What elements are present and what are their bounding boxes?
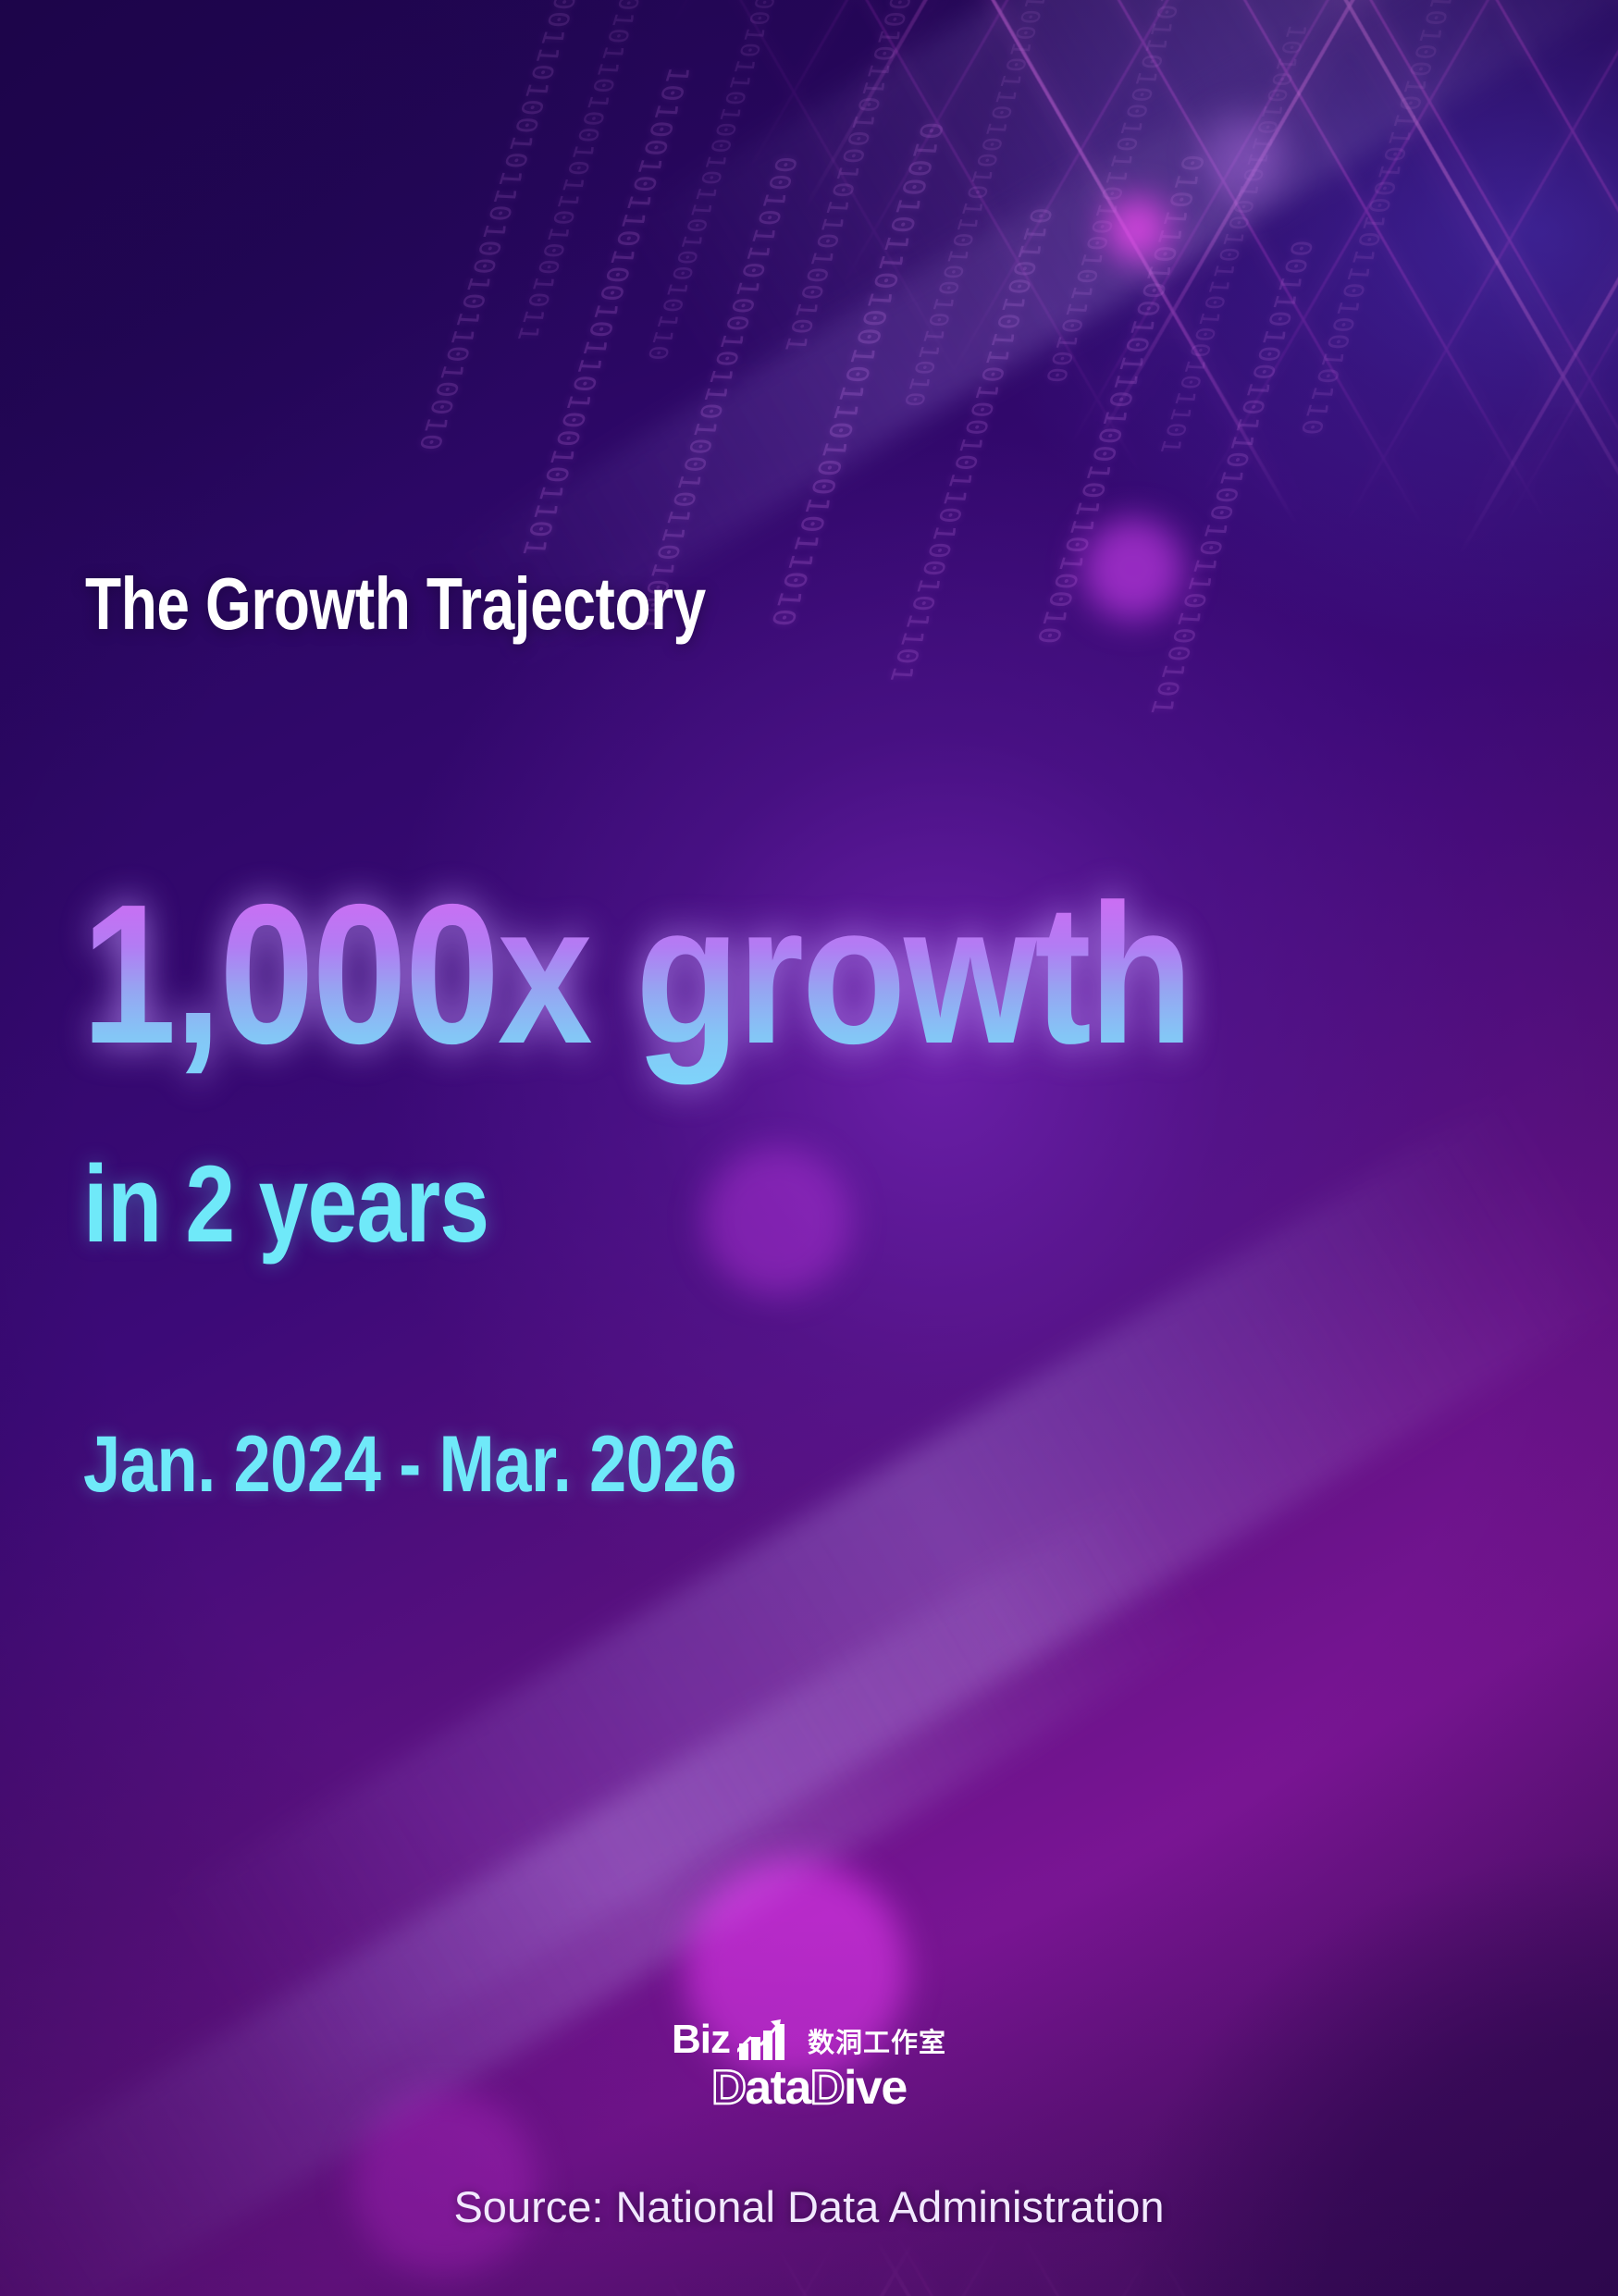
brand-name-biz: Biz bbox=[672, 2019, 730, 2060]
poster-canvas: 1001101001011010010110100100110100101101… bbox=[0, 0, 1618, 2296]
headline-text: 1,000x growth bbox=[81, 862, 1192, 1085]
brand-letters-ive: ive bbox=[844, 2061, 907, 2115]
brand-letters-ata: ata bbox=[745, 2061, 810, 2115]
poster-content: The Growth Trajectory 1,000x growth 1,00… bbox=[0, 0, 1618, 2296]
brand-letter-d2: D bbox=[810, 2061, 844, 2115]
brand-name-chinese: 数洞工作室 bbox=[808, 2027, 946, 2058]
headline-subline: in 2 years bbox=[83, 1150, 488, 1259]
page-title: The Growth Trajectory bbox=[85, 567, 706, 641]
headline-statistic: 1,000x growth 1,000x growth bbox=[81, 874, 1192, 1073]
date-range-label: Jan. 2024 - Mar. 2026 bbox=[83, 1425, 736, 1504]
brand-name-datadive: DataDive bbox=[643, 2062, 976, 2114]
brand-logo-top-row: Biz 数洞工作室 bbox=[643, 2012, 976, 2060]
brand-logo: Biz 数洞工作室 DataDive bbox=[643, 2012, 976, 2114]
brand-letter-d1: D bbox=[711, 2061, 745, 2115]
source-attribution: Source: National Data Administration bbox=[453, 2183, 1164, 2231]
bar-chart-uptrend-icon bbox=[737, 2018, 797, 2060]
